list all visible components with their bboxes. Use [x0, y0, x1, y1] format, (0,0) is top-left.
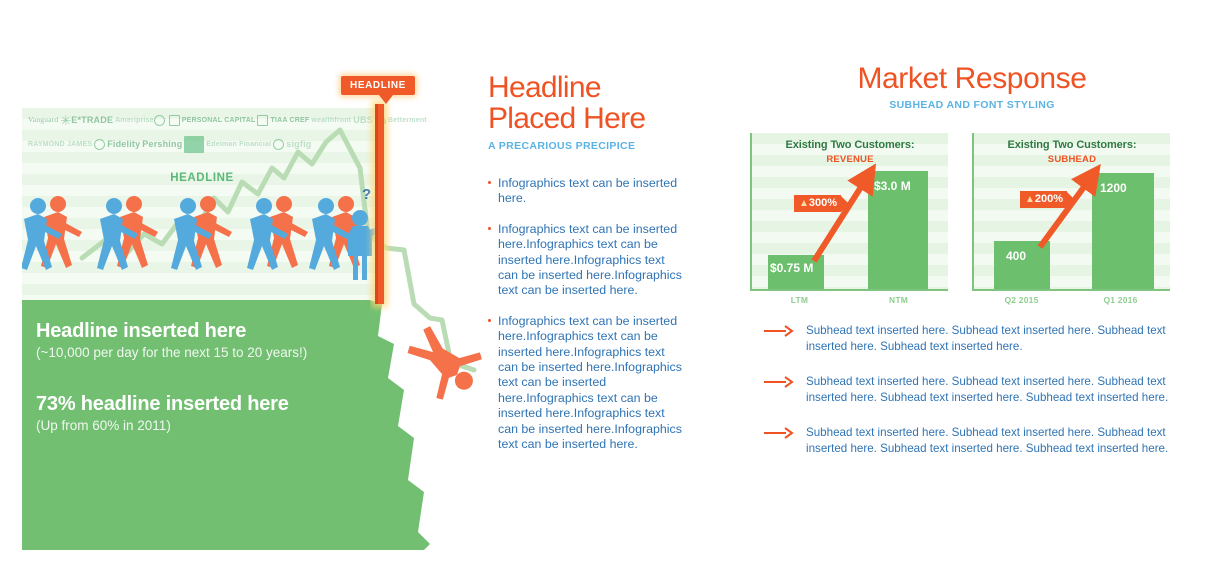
- logo-wealthfront: wealthfront: [311, 109, 351, 131]
- stat-block-2: 73% headline inserted here (Up from 60% …: [36, 393, 289, 433]
- stat-headline-2: 73% headline inserted here: [36, 393, 289, 416]
- arrow-up-icon: ▲: [1025, 194, 1035, 205]
- logo-pershing: Pershing: [142, 133, 182, 155]
- x-tick-label: NTM: [849, 295, 948, 305]
- filled-square-icon: [184, 136, 204, 153]
- logo-sigfig: sigfig: [273, 133, 311, 155]
- logo-personal-capital: PERSONAL CAPITAL: [169, 109, 256, 131]
- middle-subhead: A PRECARIOUS PRECIPICE: [488, 140, 688, 152]
- logo-tiaa-cref-label: TIAA CREF: [270, 117, 309, 124]
- list-item: Subhead text inserted here. Subhead text…: [750, 425, 1202, 456]
- middle-column: Headline Placed Here A PRECARIOUS PRECIP…: [488, 72, 688, 468]
- growth-arrow-icon: [974, 133, 1172, 291]
- logo-ameriprise-label: Ameriprise: [115, 117, 154, 124]
- logo-fidelity-label: Fidelity: [107, 140, 140, 149]
- square-icon: [169, 115, 180, 126]
- callout-pointer-icon: [379, 95, 393, 104]
- logo-row-2: RAYMOND JAMES Fidelity Pershing Edelman …: [22, 132, 382, 156]
- headline-callout-badge[interactable]: HEADLINE: [341, 76, 415, 95]
- logo-edelman-label: Edelman Financial: [206, 141, 271, 148]
- question-mark: ?: [362, 186, 371, 203]
- growth-badge-label: ▲300%: [794, 195, 841, 212]
- logo-etrade: ✳E*TRADE: [60, 109, 113, 131]
- x-tick-label: Q1 2016: [1071, 295, 1170, 305]
- infographic-canvas: Vanguard ✳E*TRADE Ameriprise PERSONAL CA…: [0, 0, 1224, 569]
- logo-sigfig-label: sigfig: [286, 140, 311, 149]
- chart-x-axis: LTM NTM: [750, 295, 948, 305]
- band-headline: HEADLINE: [22, 168, 382, 188]
- bullet-text: Subhead text inserted here. Subhead text…: [806, 375, 1168, 404]
- badge-tip-icon: [841, 196, 849, 212]
- circle-icon: [273, 139, 284, 150]
- arrow-right-icon: [764, 324, 794, 338]
- logo-ubs: UBS: [353, 109, 373, 131]
- logo-etrade-label: E*TRADE: [71, 116, 113, 125]
- figures-svg: [22, 186, 378, 302]
- chart-plot-area: Existing Two Customers: SUBHEAD 400 1200…: [972, 133, 1170, 291]
- bullet-text: Infographics text can be inserted here.I…: [498, 222, 682, 298]
- arrow-right-icon: [764, 375, 794, 389]
- growth-arrow-icon: [752, 133, 950, 291]
- growth-badge-200: ▲200%: [1020, 191, 1075, 208]
- logo-raymond-james: RAYMOND JAMES: [28, 133, 92, 155]
- list-item: Infographics text can be inserted here.I…: [488, 314, 688, 453]
- chart-plot-area: Existing Two Customers: REVENUE $0.75 M …: [750, 133, 948, 291]
- bullet-text: Infographics text can be inserted here.: [498, 176, 677, 205]
- list-item: Infographics text can be inserted here.: [488, 176, 688, 207]
- bullet-text: Subhead text inserted here. Subhead text…: [806, 324, 1166, 353]
- logo-pershing-label: Pershing: [142, 140, 182, 149]
- growth-badge-300: ▲300%: [794, 195, 849, 212]
- logo-raymond-james-label: RAYMOND JAMES: [28, 141, 92, 148]
- falling-figure: [404, 324, 484, 404]
- charts-row: Existing Two Customers: REVENUE $0.75 M …: [742, 133, 1202, 305]
- badge-tip-icon: [1067, 192, 1075, 208]
- logo-ubs-label: UBS: [353, 116, 373, 125]
- list-item: Subhead text inserted here. Subhead text…: [750, 374, 1202, 405]
- bullet-text: Infographics text can be inserted here.I…: [498, 314, 682, 451]
- page-title: Market Response: [742, 62, 1202, 96]
- star-icon: ✳: [60, 114, 71, 127]
- stat-sub-1: (~10,000 per day for the next 15 to 20 y…: [36, 345, 307, 360]
- arrow-right-icon: [764, 426, 794, 440]
- green-stat-block: Headline inserted here (~10,000 per day …: [22, 300, 370, 550]
- logo-wealthfront-label: wealthfront: [311, 117, 351, 124]
- list-item: Infographics text can be inserted here.I…: [488, 222, 688, 299]
- growth-badge-label: ▲200%: [1020, 191, 1067, 208]
- chart-x-axis: Q2 2015 Q1 2016: [972, 295, 1170, 305]
- list-item: Subhead text inserted here. Subhead text…: [750, 323, 1202, 354]
- logo-fidelity: Fidelity: [94, 133, 140, 155]
- logo-tiaa-cref: TIAA CREF: [257, 109, 309, 131]
- logo-vanguard: Vanguard: [28, 109, 58, 131]
- circle-icon: [94, 139, 105, 150]
- square-icon: [257, 115, 268, 126]
- logo-ameriprise: Ameriprise: [115, 109, 167, 131]
- band-headline-label: HEADLINE: [170, 172, 234, 184]
- bullet-dot-icon: [488, 319, 491, 322]
- logo-betterment-label: Betterment: [388, 117, 427, 124]
- chart-subhead: Existing Two Customers: SUBHEAD 400 1200…: [972, 133, 1170, 305]
- logo-band: Vanguard ✳E*TRADE Ameriprise PERSONAL CA…: [22, 108, 382, 156]
- stat-headline-1: Headline inserted here: [36, 320, 307, 343]
- cliff-edge-marker: [375, 104, 384, 304]
- walking-figures: ?: [22, 186, 378, 302]
- middle-headline-line1: Headline: [488, 72, 688, 103]
- x-tick-label: LTM: [750, 295, 849, 305]
- right-panel: Market Response SUBHEAD AND FONT STYLING…: [742, 62, 1202, 476]
- chart-revenue: Existing Two Customers: REVENUE $0.75 M …: [750, 133, 948, 305]
- right-bullet-list: Subhead text inserted here. Subhead text…: [742, 323, 1202, 456]
- circle-icon: [154, 115, 165, 126]
- logo-personal-capital-label: PERSONAL CAPITAL: [182, 117, 256, 124]
- logo-edelman-financial: Edelman Financial: [206, 133, 271, 155]
- arrow-up-icon: ▲: [799, 198, 809, 209]
- left-panel: Vanguard ✳E*TRADE Ameriprise PERSONAL CA…: [22, 108, 482, 550]
- stat-block-1: Headline inserted here (~10,000 per day …: [36, 320, 307, 360]
- stat-sub-2: (Up from 60% in 2011): [36, 418, 289, 433]
- middle-headline-line2: Placed Here: [488, 103, 688, 134]
- bullet-text: Subhead text inserted here. Subhead text…: [806, 426, 1168, 455]
- x-tick-label: Q2 2015: [972, 295, 1071, 305]
- middle-bullet-list: Infographics text can be inserted here. …: [488, 176, 688, 453]
- logo-vanguard-label: Vanguard: [28, 116, 58, 124]
- bullet-dot-icon: [488, 181, 491, 184]
- logo-square-mark: [184, 133, 204, 155]
- logo-row-1: Vanguard ✳E*TRADE Ameriprise PERSONAL CA…: [22, 108, 382, 132]
- bullet-dot-icon: [488, 227, 491, 230]
- headline-callout-label: HEADLINE: [341, 76, 415, 95]
- page-subhead: SUBHEAD AND FONT STYLING: [742, 99, 1202, 111]
